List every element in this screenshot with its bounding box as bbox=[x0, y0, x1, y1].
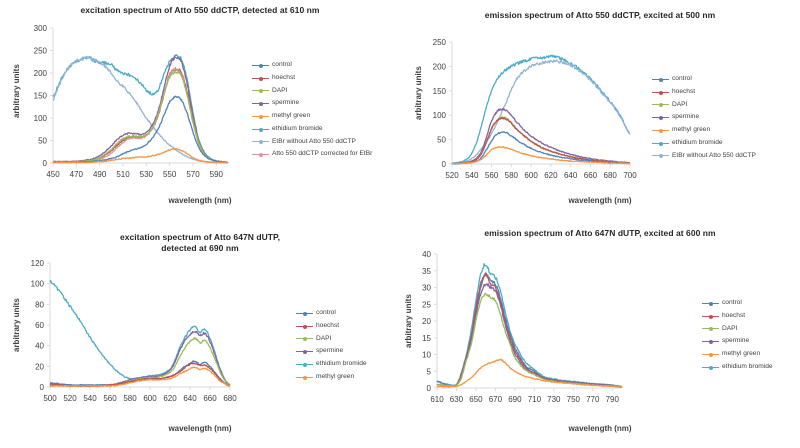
x-tick-label: 560 bbox=[103, 394, 117, 403]
x-tick-label: 600 bbox=[143, 394, 157, 403]
legend-color-swatch bbox=[296, 313, 313, 314]
legend-item[interactable]: hoechst bbox=[652, 89, 756, 96]
legend-marker-icon bbox=[259, 153, 263, 157]
x-tick-label: 580 bbox=[505, 171, 519, 180]
legend-color-swatch bbox=[252, 90, 269, 91]
legend-item-label: EtBr without Atto 550 ddCTP bbox=[272, 139, 356, 146]
legend-marker-icon bbox=[259, 115, 263, 119]
legend-color-swatch bbox=[296, 351, 313, 352]
y-tick-label: 0 bbox=[442, 160, 447, 169]
legend-color-swatch bbox=[652, 117, 669, 118]
legend-color-swatch bbox=[702, 367, 719, 368]
y-tick-label: 15 bbox=[422, 334, 431, 343]
x-tick-label: 640 bbox=[564, 171, 578, 180]
legend-item-label: spermine bbox=[672, 114, 699, 121]
legend-item-label: control bbox=[272, 62, 292, 69]
legend-color-swatch bbox=[296, 326, 313, 327]
legend-item[interactable]: spermine bbox=[252, 100, 372, 107]
x-tick-label: 540 bbox=[83, 394, 97, 403]
legend-item[interactable]: ethidium bromide bbox=[296, 361, 367, 368]
chart-legend: controlhoechstDAPIsperminemethyl greenet… bbox=[702, 300, 773, 377]
legend-item[interactable]: control bbox=[252, 62, 372, 69]
series-line bbox=[437, 273, 622, 387]
legend-color-swatch bbox=[652, 143, 669, 144]
legend-marker-icon bbox=[659, 142, 663, 146]
legend-color-swatch bbox=[296, 377, 313, 378]
legend-marker-icon bbox=[709, 353, 713, 357]
legend-color-swatch bbox=[652, 130, 669, 131]
legend-marker-icon bbox=[303, 376, 307, 380]
y-tick-label: 300 bbox=[34, 24, 48, 33]
y-tick-label: 30 bbox=[422, 284, 431, 293]
legend-marker-icon bbox=[709, 315, 713, 319]
legend-marker-icon bbox=[659, 116, 663, 120]
x-tick-label: 540 bbox=[465, 171, 479, 180]
legend-marker-icon bbox=[303, 337, 307, 341]
legend-item[interactable]: DAPI bbox=[702, 326, 773, 333]
legend-item[interactable]: methyl green bbox=[652, 127, 756, 134]
x-tick-label: 590 bbox=[210, 170, 224, 179]
legend-item[interactable]: hoechst bbox=[296, 323, 367, 330]
chart-legend: controlhoechstDAPIsperminemethyl greenet… bbox=[652, 76, 756, 165]
y-tick-label: 100 bbox=[34, 114, 48, 123]
y-tick-label: 10 bbox=[422, 351, 431, 360]
x-tick-label: 620 bbox=[163, 394, 177, 403]
legend-color-swatch bbox=[252, 116, 269, 117]
series-line bbox=[50, 363, 230, 386]
spectroscopy-figure: excitation spectrum of Atto 550 ddCTP, d… bbox=[0, 0, 800, 448]
y-tick-label: 150 bbox=[34, 92, 48, 101]
legend-color-swatch bbox=[252, 129, 269, 130]
legend-color-swatch bbox=[652, 79, 669, 80]
legend-item[interactable]: EtBr without Atto 550 ddCTP bbox=[652, 153, 756, 160]
legend-item-label: DAPI bbox=[722, 326, 737, 333]
legend-marker-icon bbox=[303, 325, 307, 329]
legend-color-swatch bbox=[702, 316, 719, 317]
series-line bbox=[53, 96, 228, 163]
x-tick-label: 510 bbox=[116, 170, 130, 179]
legend-marker-icon bbox=[709, 327, 713, 331]
legend-marker-icon bbox=[303, 350, 307, 354]
legend-item-label: hoechst bbox=[272, 75, 295, 82]
legend-color-swatch bbox=[252, 78, 269, 79]
legend-item-label: control bbox=[672, 76, 692, 83]
legend-item-label: ethidium bromide bbox=[272, 126, 323, 133]
legend-item[interactable]: ethidium bromide bbox=[652, 140, 756, 147]
legend-marker-icon bbox=[303, 363, 307, 367]
legend-color-swatch bbox=[252, 103, 269, 104]
legend-color-swatch bbox=[652, 155, 669, 156]
legend-marker-icon bbox=[659, 103, 663, 107]
x-tick-label: 680 bbox=[223, 394, 237, 403]
x-tick-label: 710 bbox=[528, 395, 542, 404]
legend-item[interactable]: spermine bbox=[652, 114, 756, 121]
legend-item[interactable]: DAPI bbox=[296, 336, 367, 343]
legend-color-swatch bbox=[702, 328, 719, 329]
legend-color-swatch bbox=[702, 354, 719, 355]
legend-item[interactable]: hoechst bbox=[252, 75, 372, 82]
legend-marker-icon bbox=[659, 78, 663, 82]
legend-item[interactable]: control bbox=[702, 300, 773, 307]
legend-color-swatch bbox=[652, 104, 669, 105]
legend-marker-icon bbox=[259, 140, 263, 144]
legend-item-label: hoechst bbox=[672, 89, 695, 96]
y-tick-label: 20 bbox=[35, 362, 44, 371]
legend-item-label: hoechst bbox=[722, 313, 745, 320]
y-tick-label: 60 bbox=[35, 321, 44, 330]
legend-item[interactable]: ethidium bromide bbox=[252, 126, 372, 133]
legend-marker-icon bbox=[709, 302, 713, 306]
legend-item[interactable]: methyl green bbox=[702, 351, 773, 358]
legend-marker-icon bbox=[659, 129, 663, 133]
x-tick-label: 660 bbox=[203, 394, 217, 403]
legend-color-swatch bbox=[296, 338, 313, 339]
legend-item[interactable]: methyl green bbox=[296, 374, 367, 381]
legend-item-label: DAPI bbox=[672, 102, 687, 109]
legend-marker-icon bbox=[259, 128, 263, 132]
legend-item-label: methyl green bbox=[316, 374, 354, 381]
legend-marker-icon bbox=[259, 102, 263, 106]
x-tick-label: 750 bbox=[567, 395, 581, 404]
y-tick-label: 50 bbox=[437, 136, 446, 145]
y-tick-label: 25 bbox=[422, 300, 431, 309]
y-tick-label: 0 bbox=[43, 159, 48, 168]
legend-color-swatch bbox=[296, 364, 313, 365]
y-tick-label: 200 bbox=[433, 62, 447, 71]
series-line bbox=[437, 293, 622, 387]
legend-item-label: hoechst bbox=[316, 323, 339, 330]
legend-item-label: methyl green bbox=[272, 113, 310, 120]
legend-marker-icon bbox=[303, 312, 307, 316]
x-tick-label: 790 bbox=[606, 395, 620, 404]
y-tick-label: 120 bbox=[31, 259, 45, 268]
series-line bbox=[53, 72, 228, 163]
x-tick-label: 570 bbox=[186, 170, 200, 179]
x-tick-label: 650 bbox=[469, 395, 483, 404]
legend-item[interactable]: DAPI bbox=[652, 102, 756, 109]
y-tick-label: 80 bbox=[35, 300, 44, 309]
y-tick-label: 150 bbox=[433, 87, 447, 96]
x-tick-label: 490 bbox=[93, 170, 107, 179]
legend-item-label: control bbox=[316, 310, 336, 317]
x-tick-label: 770 bbox=[586, 395, 600, 404]
y-tick-label: 0 bbox=[427, 384, 432, 393]
legend-item-label: Atto 550 ddCTP corrected for EtBr bbox=[272, 151, 372, 158]
legend-item-label: ethidium bromide bbox=[672, 140, 723, 147]
legend-item[interactable]: Atto 550 ddCTP corrected for EtBr bbox=[252, 151, 372, 158]
y-tick-label: 40 bbox=[422, 250, 431, 259]
y-tick-label: 100 bbox=[31, 280, 45, 289]
legend-marker-icon bbox=[659, 91, 663, 95]
x-tick-label: 600 bbox=[524, 171, 538, 180]
legend-color-swatch bbox=[702, 341, 719, 342]
panel-emission-atto647n: emission spectrum of Atto 647N dUTP, exc… bbox=[400, 224, 800, 448]
x-tick-label: 730 bbox=[547, 395, 561, 404]
panel-emission-atto550: emission spectrum of Atto 550 ddCTP, exc… bbox=[400, 0, 800, 224]
legend-item[interactable]: control bbox=[652, 76, 756, 83]
legend-color-swatch bbox=[252, 141, 269, 142]
y-tick-label: 100 bbox=[433, 111, 447, 120]
x-tick-label: 530 bbox=[140, 170, 154, 179]
x-tick-label: 550 bbox=[163, 170, 177, 179]
chart-legend: controlhoechstDAPIsperminemethyl greenet… bbox=[252, 62, 372, 164]
y-tick-label: 20 bbox=[422, 317, 431, 326]
x-tick-label: 640 bbox=[183, 394, 197, 403]
legend-marker-icon bbox=[259, 77, 263, 81]
series-line bbox=[50, 367, 230, 386]
legend-color-swatch bbox=[702, 303, 719, 304]
y-tick-label: 50 bbox=[38, 137, 47, 146]
x-tick-label: 610 bbox=[430, 395, 444, 404]
legend-item-label: ethidium bromide bbox=[316, 361, 367, 368]
legend-color-swatch bbox=[652, 92, 669, 93]
legend-item-label: methyl green bbox=[722, 351, 760, 358]
x-tick-label: 680 bbox=[604, 171, 618, 180]
legend-item-label: ethidium bromide bbox=[722, 364, 773, 371]
y-tick-label: 200 bbox=[34, 69, 48, 78]
legend-item-label: control bbox=[722, 300, 742, 307]
legend-marker-icon bbox=[259, 64, 263, 68]
panel-excitation-atto550: excitation spectrum of Atto 550 ddCTP, d… bbox=[0, 0, 400, 224]
y-tick-label: 40 bbox=[35, 342, 44, 351]
y-tick-label: 250 bbox=[34, 47, 48, 56]
series-line bbox=[50, 361, 230, 386]
legend-item[interactable]: hoechst bbox=[702, 313, 773, 320]
x-tick-label: 500 bbox=[43, 394, 57, 403]
legend-item-label: EtBr without Atto 550 ddCTP bbox=[672, 153, 756, 160]
y-tick-label: 5 bbox=[427, 367, 432, 376]
x-tick-label: 690 bbox=[508, 395, 522, 404]
legend-item[interactable]: EtBr without Atto 550 ddCTP bbox=[252, 139, 372, 146]
legend-item[interactable]: spermine bbox=[702, 338, 773, 345]
x-tick-label: 620 bbox=[544, 171, 558, 180]
panel-excitation-atto647n: excitation spectrum of Atto 647N dUTP,de… bbox=[0, 224, 400, 448]
legend-marker-icon bbox=[659, 154, 663, 158]
x-tick-label: 670 bbox=[489, 395, 503, 404]
x-tick-label: 520 bbox=[445, 171, 459, 180]
x-tick-label: 450 bbox=[46, 170, 60, 179]
x-tick-label: 520 bbox=[63, 394, 77, 403]
legend-item-label: spermine bbox=[316, 348, 343, 355]
x-tick-label: 580 bbox=[123, 394, 137, 403]
legend-item[interactable]: control bbox=[296, 310, 367, 317]
legend-color-swatch bbox=[252, 65, 269, 66]
legend-marker-icon bbox=[259, 89, 263, 93]
y-tick-label: 35 bbox=[422, 267, 431, 276]
x-tick-label: 660 bbox=[584, 171, 598, 180]
legend-item[interactable]: DAPI bbox=[252, 88, 372, 95]
x-tick-label: 560 bbox=[485, 171, 499, 180]
chart-legend: controlhoechstDAPIspermineethidium bromi… bbox=[296, 310, 367, 387]
legend-item[interactable]: ethidium bromide bbox=[702, 364, 773, 371]
legend-item-label: methyl green bbox=[672, 127, 710, 134]
legend-item-label: DAPI bbox=[272, 88, 287, 95]
legend-item[interactable]: methyl green bbox=[252, 113, 372, 120]
legend-item-label: spermine bbox=[722, 338, 749, 345]
legend-item-label: spermine bbox=[272, 100, 299, 107]
x-tick-label: 630 bbox=[450, 395, 464, 404]
y-tick-label: 0 bbox=[40, 383, 45, 392]
x-tick-label: 700 bbox=[623, 171, 637, 180]
x-tick-label: 470 bbox=[70, 170, 84, 179]
y-tick-label: 250 bbox=[433, 38, 447, 47]
legend-marker-icon bbox=[709, 366, 713, 370]
legend-color-swatch bbox=[252, 154, 269, 155]
legend-item-label: DAPI bbox=[316, 336, 331, 343]
legend-marker-icon bbox=[709, 340, 713, 344]
legend-item[interactable]: spermine bbox=[296, 348, 367, 355]
